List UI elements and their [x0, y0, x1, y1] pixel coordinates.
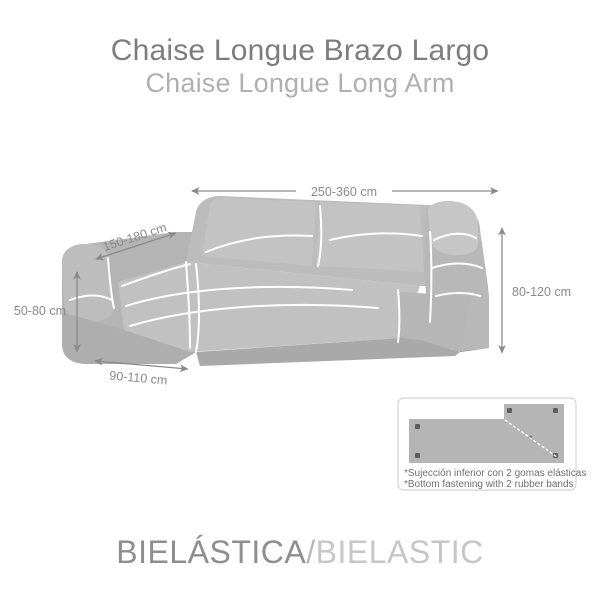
sofa-illustration: 250-360 cm 150-180 cm 50-80 cm 90-110 cm…: [0, 0, 600, 600]
dimension-total-width-label: 250-360 cm: [311, 185, 377, 199]
dimension-seat-height-label: 50-80 cm: [14, 304, 66, 318]
fastening-inset: * *Sujección inferior con 2 gomas elásti…: [398, 398, 586, 490]
inset-asterisk-marker: *: [529, 434, 533, 445]
inset-note-spanish: *Sujección inferior con 2 gomas elástica…: [404, 468, 586, 479]
armrest-right-roll: [428, 201, 478, 255]
sofa-shape: [62, 196, 489, 366]
product-spec-diagram: Chaise Longue Brazo Largo Chaise Longue …: [0, 0, 600, 600]
footer-separator: /: [306, 534, 315, 570]
footer-label-english: BIELASTIC: [316, 534, 484, 570]
back-cushion-left: [202, 198, 316, 266]
footer-label-spanish: BIELÁSTICA: [116, 534, 306, 570]
inset-note-english: *Bottom fastening with 2 rubber bands: [404, 479, 574, 490]
footer-block: BIELÁSTICA/BIELASTIC: [0, 534, 600, 571]
dimension-back-height: 80-120 cm: [502, 228, 571, 353]
dimension-back-height-label: 80-120 cm: [512, 285, 571, 299]
back-cushion-right: [316, 202, 424, 272]
dimension-chaise-width: 90-110 cm: [95, 361, 188, 388]
dimension-chaise-width-label: 90-110 cm: [109, 369, 168, 388]
